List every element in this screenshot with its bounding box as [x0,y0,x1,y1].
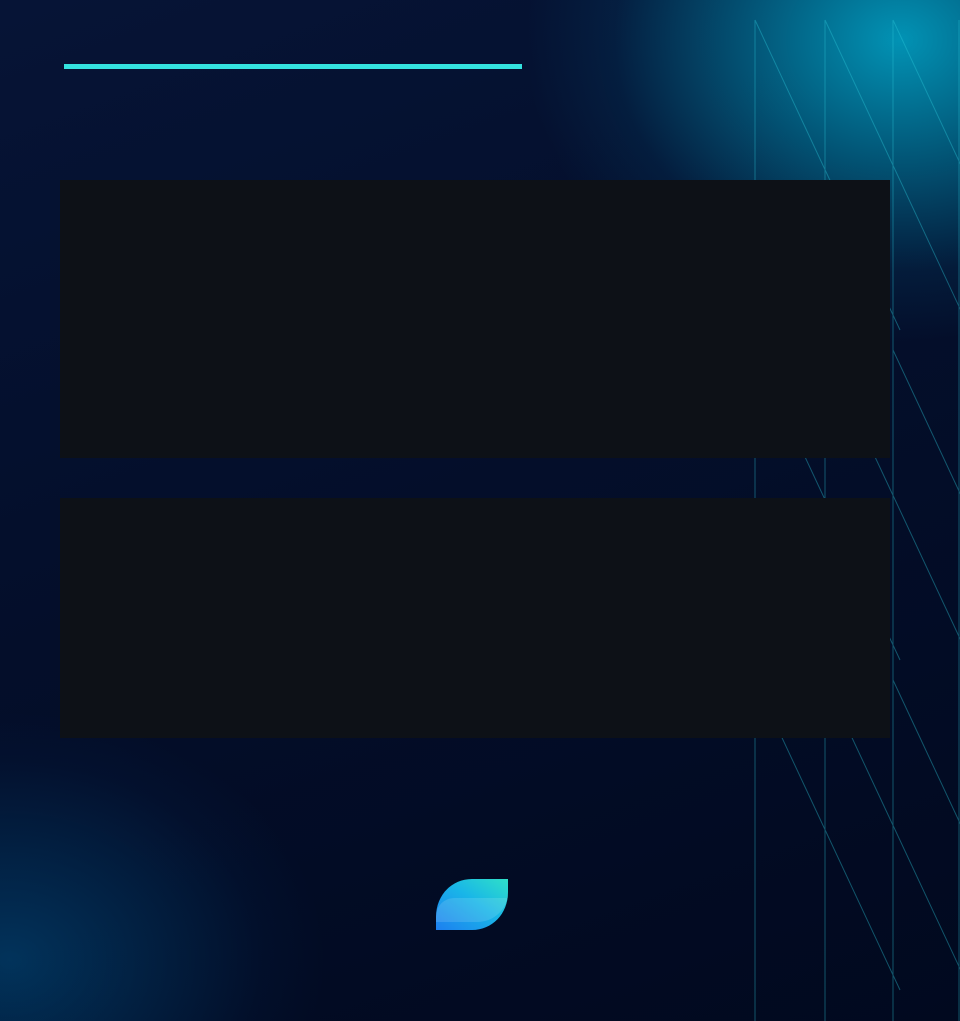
footer-brand [0,873,960,936]
screenshot-model-volatility-smile [60,180,890,458]
screenshot-historical-iv [60,498,890,738]
title-block [60,64,522,80]
signalplus-logo-icon [432,873,512,936]
title-accent-rule [64,64,522,69]
